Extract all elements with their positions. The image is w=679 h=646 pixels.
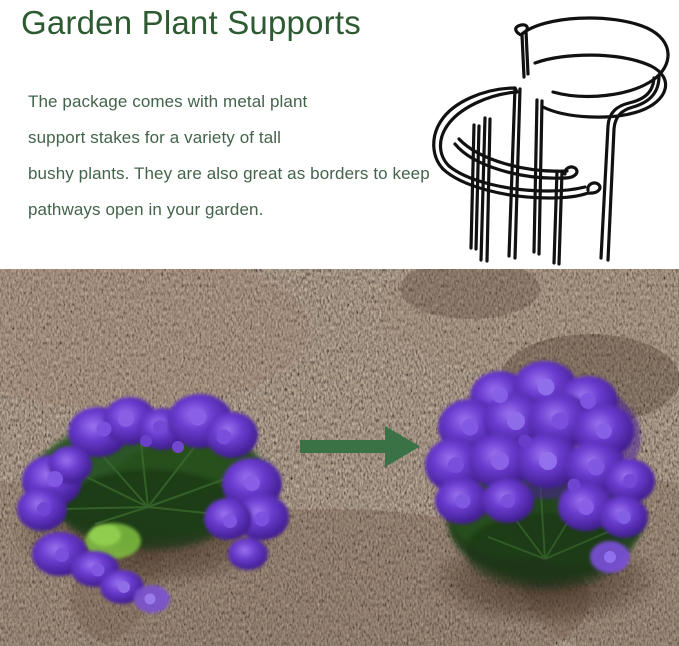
header-section: Garden Plant Supports The package comes … (0, 0, 679, 269)
product-banner: Garden Plant Supports The package comes … (0, 0, 679, 646)
plant-support-illustration-icon (425, 8, 679, 266)
page-title: Garden Plant Supports (21, 3, 361, 43)
before-after-photo (0, 269, 679, 646)
